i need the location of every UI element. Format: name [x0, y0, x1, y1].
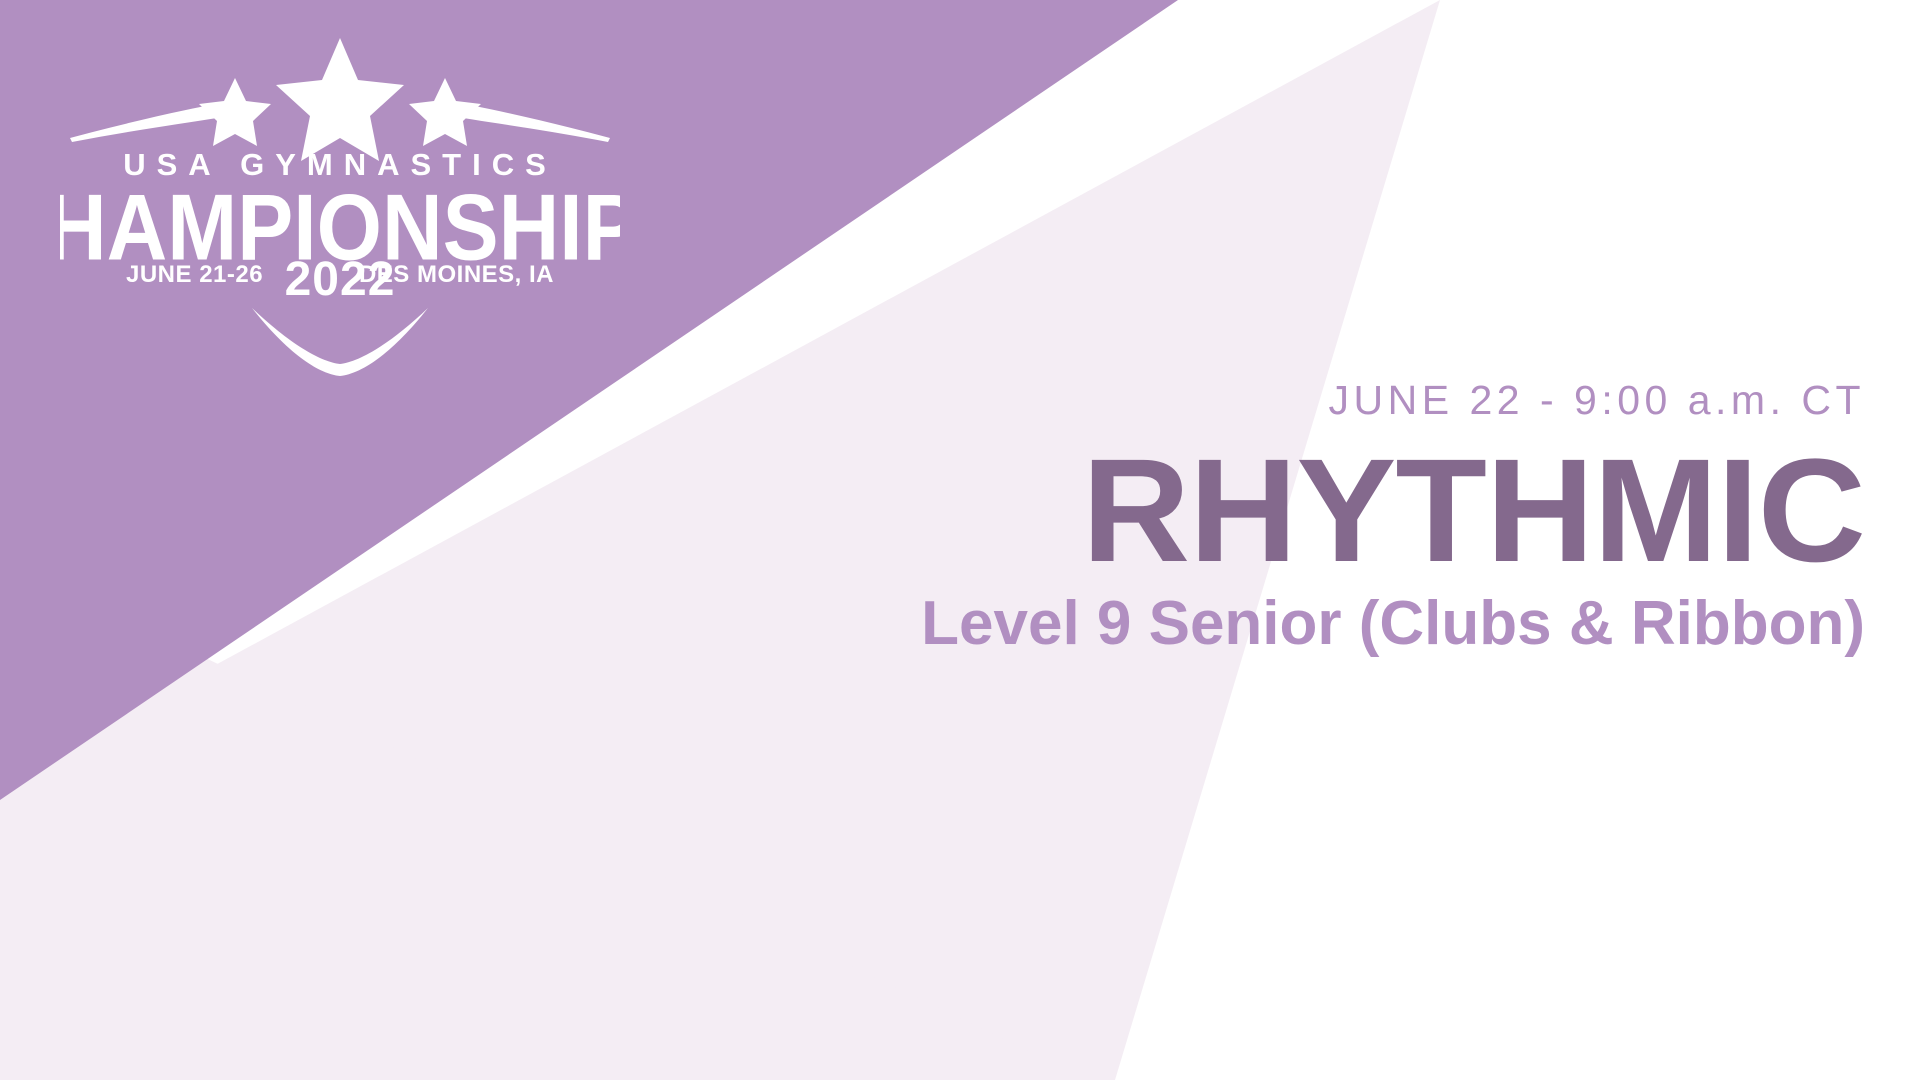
star-icon: [199, 78, 271, 146]
logo-location: DES MOINES, IA: [359, 261, 554, 288]
title-card-slide: USA GYMNASTICS CHAMPIONSHIPS JUNE 21-26 …: [0, 0, 1920, 1080]
event-subtitle: Level 9 Senior (Clubs & Ribbon): [805, 590, 1865, 658]
event-datetime: JUNE 22 - 9:00 a.m. CT: [805, 380, 1865, 421]
event-text-block: JUNE 22 - 9:00 a.m. CT RHYTHMIC Level 9 …: [805, 380, 1865, 658]
star-icon: [276, 38, 404, 161]
chevron-swoosh-icon: [252, 308, 428, 376]
star-icon: [409, 78, 481, 146]
logo-date-range: JUNE 21-26: [126, 261, 263, 288]
usa-gymnastics-championships-logo: USA GYMNASTICS CHAMPIONSHIPS JUNE 21-26 …: [60, 30, 620, 380]
event-title: RHYTHMIC: [784, 443, 1865, 580]
